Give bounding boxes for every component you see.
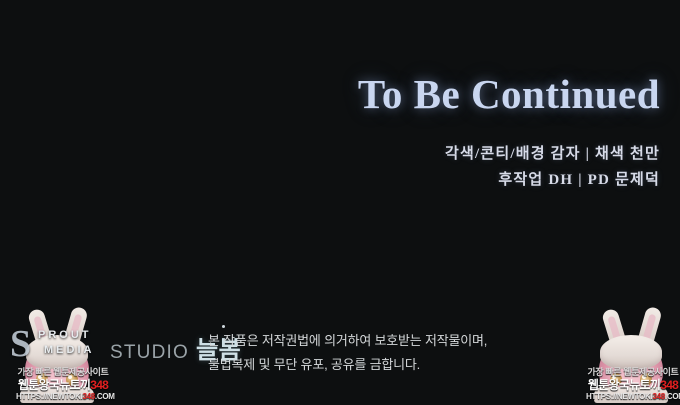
watermark-url: HTTPS://NEWTOKI348.COM (586, 393, 680, 401)
credits-block: 각색/콘티/배경 감자 | 채색 천만 후작업 DH | PD 문제덕 (20, 142, 660, 194)
watermark-sitename-number: 348 (660, 378, 678, 392)
sprout-logo-initial: S (10, 325, 31, 363)
watermark-url-text: HTTPS://NEWTOKI (16, 392, 82, 401)
watermark-tagline: 가장 빠른 웹툰제공사이트 (586, 368, 680, 377)
sprout-logo-word2: MEDIA (44, 344, 94, 356)
watermark-url-suffix: .COM (665, 392, 680, 401)
watermark-tagline: 가장 빠른 웹툰제공사이트 (16, 368, 110, 377)
watermark-url-number: 348 (652, 392, 664, 401)
studio-logo-dot-icon (222, 325, 225, 328)
watermark-url-number: 348 (82, 392, 94, 401)
sprout-media-logo: S PROUT MEDIA (10, 323, 106, 365)
watermark-sitename: 웹툰왕국뉴토끼348 (16, 379, 110, 391)
watermark-url-suffix: .COM (95, 392, 115, 401)
studio-logo-english: STUDIO (110, 342, 189, 364)
credit-line-production: 각색/콘티/배경 감자 | 채색 천만 (20, 142, 660, 168)
watermark-sitename-text: 웹툰왕국뉴토끼 (588, 378, 660, 392)
bottom-band: S PROUT MEDIA STUDIO 늘봄 본 작품은 저작권법에 의거하여… (0, 305, 680, 405)
watermark-url: HTTPS://NEWTOKI348.COM (16, 393, 110, 401)
sprout-logo-word1: PROUT (38, 329, 92, 341)
title-block: To Be Continued (4, 72, 664, 117)
watermark-sitename-text: 웹툰왕국뉴토끼 (18, 378, 90, 392)
watermark-sitename: 웹툰왕국뉴토끼348 (586, 379, 680, 391)
watermark-url-text: HTTPS://NEWTOKI (586, 392, 652, 401)
page-title: To Be Continued (4, 72, 664, 117)
copyright-notice: 본 작품은 저작권법에 의거하여 보호받는 저작물이며, 불법복제 및 무단 유… (208, 329, 568, 377)
watermark-right: 가장 빠른 웹툰제공사이트 웹툰왕국뉴토끼348 HTTPS://NEWTOKI… (586, 368, 680, 401)
copyright-line-2: 불법복제 및 무단 유포, 공유를 금합니다. (208, 353, 568, 377)
credit-line-post: 후작업 DH | PD 문제덕 (20, 168, 660, 194)
watermark-sitename-number: 348 (90, 378, 108, 392)
bonnet-right (600, 335, 662, 369)
watermark-left: 가장 빠른 웹툰제공사이트 웹툰왕국뉴토끼348 HTTPS://NEWTOKI… (16, 368, 110, 401)
copyright-line-1: 본 작품은 저작권법에 의거하여 보호받는 저작물이며, (208, 329, 568, 353)
end-card-canvas: To Be Continued 각색/콘티/배경 감자 | 채색 천만 후작업 … (0, 0, 680, 405)
